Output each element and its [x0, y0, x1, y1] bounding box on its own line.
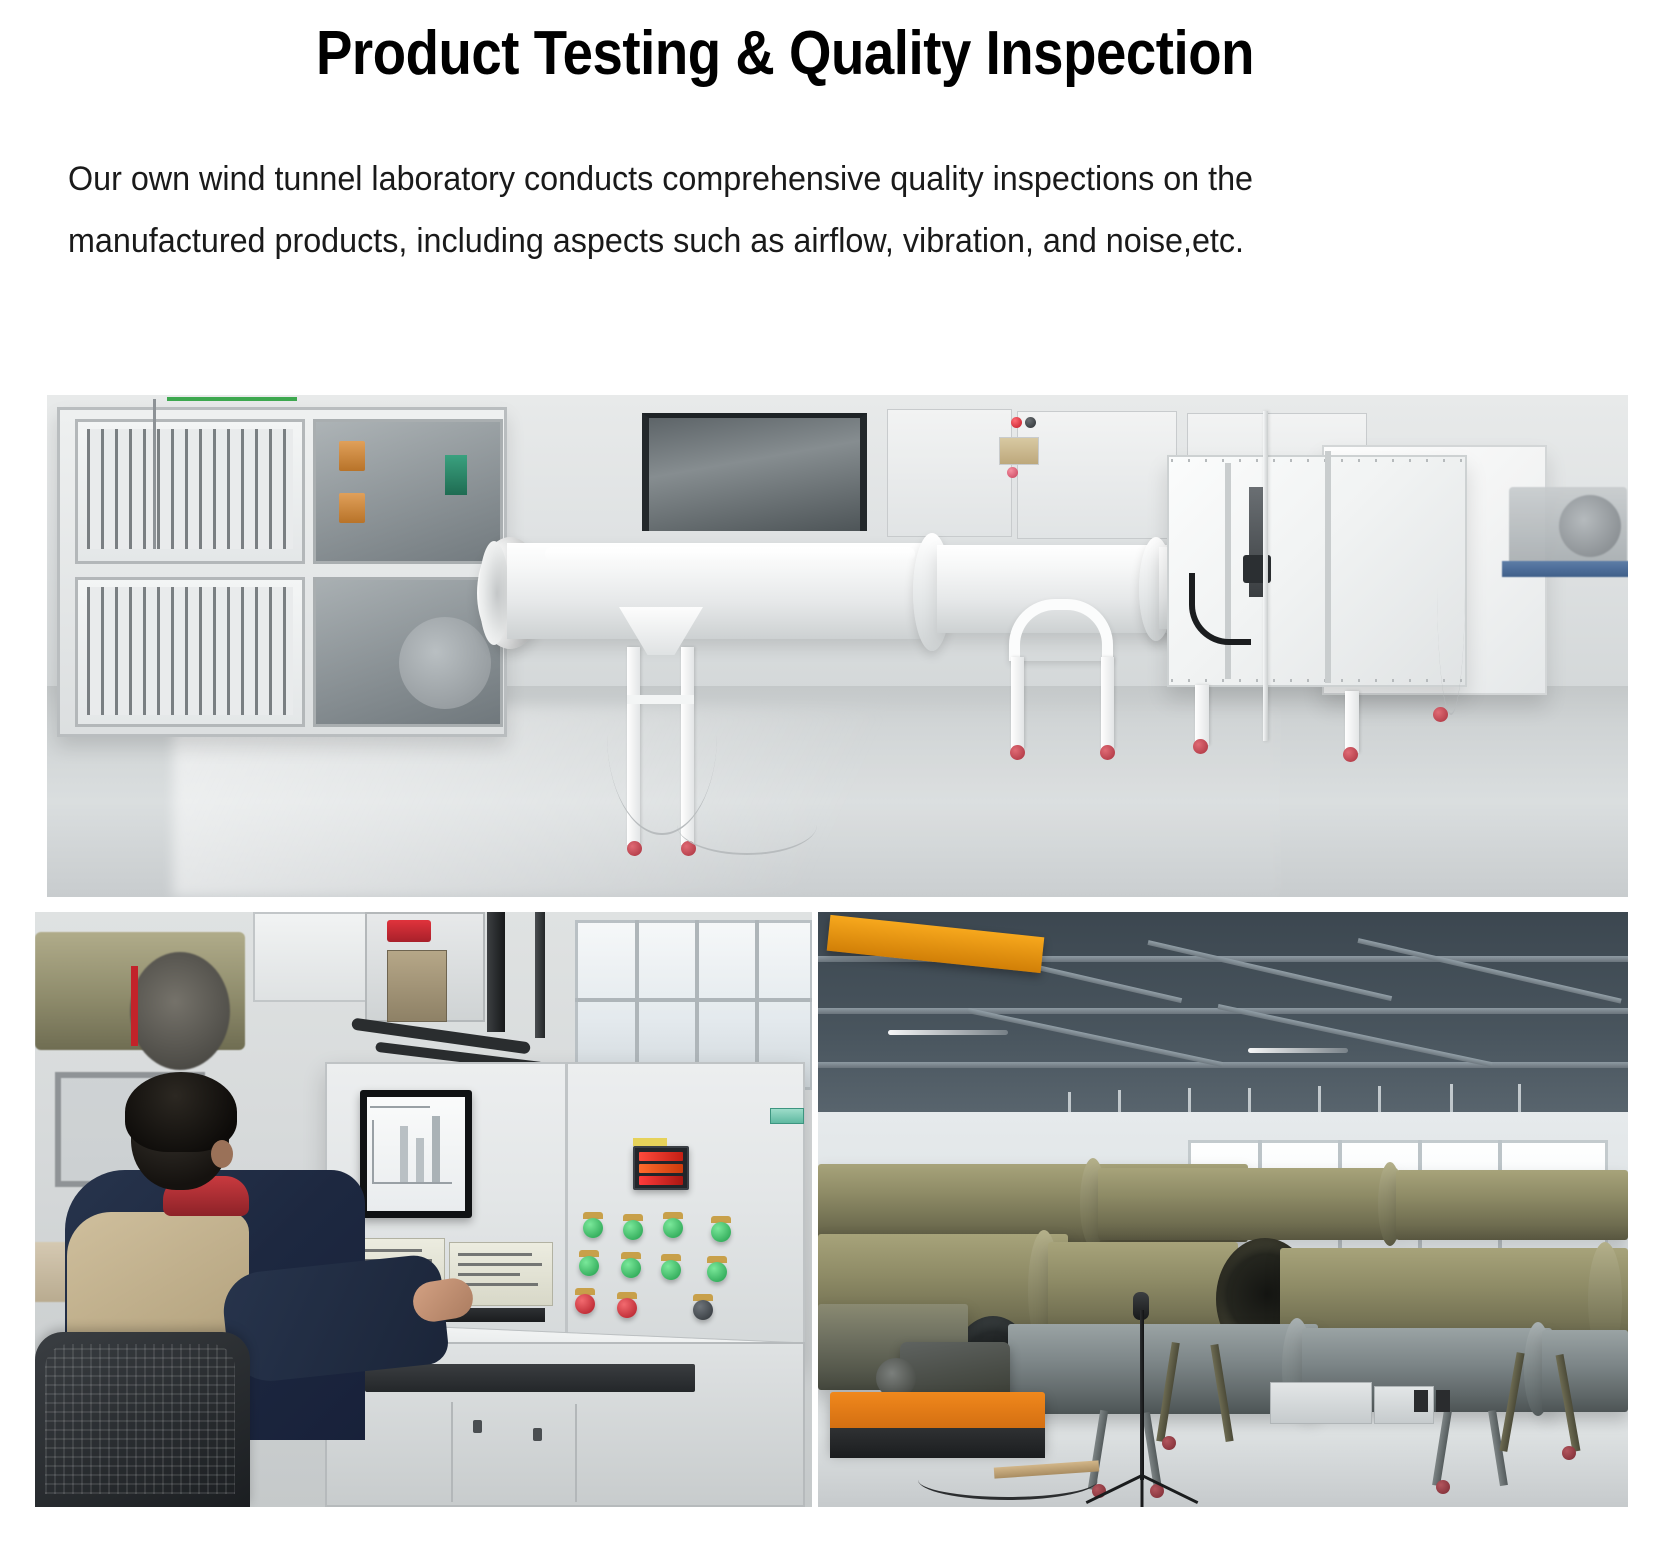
console-drawer: [365, 1364, 695, 1392]
screen-bar-b: [416, 1138, 424, 1182]
background-machine-base: [1502, 561, 1628, 577]
stand-caster-1a: [627, 841, 642, 856]
screen-axis-h: [372, 1182, 452, 1184]
stand-caster-2b: [1100, 745, 1115, 760]
chamber-caster-c: [1433, 707, 1448, 722]
console-green-label: [770, 1108, 804, 1124]
cabinet-grille-upper-left: [87, 429, 293, 549]
support-pole: [1263, 411, 1268, 741]
cabinet-knob-a: [473, 1420, 482, 1433]
ceiling-light-a: [888, 1030, 1008, 1035]
stand-leg-2b: [1101, 657, 1114, 749]
label-line: [458, 1283, 538, 1286]
bellmouth-lip: [479, 541, 509, 645]
indicator-button-black[interactable]: [693, 1300, 713, 1320]
indicator-button-red-1[interactable]: [575, 1294, 595, 1314]
photo-wind-tunnel-main: [47, 395, 1628, 897]
screen-bar-a: [400, 1126, 408, 1182]
background-fan-wheel: [1559, 495, 1621, 557]
vertical-conduit: [487, 912, 505, 1032]
internal-green-module: [445, 455, 467, 495]
slide-page: Product Testing & Quality Inspection Our…: [0, 0, 1670, 1547]
indicator-button-red-2[interactable]: [617, 1298, 637, 1318]
page-title: Product Testing & Quality Inspection: [94, 18, 1476, 89]
chamber-caster-a: [1193, 739, 1208, 754]
microphone-stand-pole: [1140, 1310, 1144, 1480]
indicator-light-red: [1011, 417, 1022, 428]
indicator-button-green-6[interactable]: [621, 1258, 641, 1278]
indicator-button-green-3[interactable]: [663, 1218, 683, 1238]
internal-blower: [399, 617, 491, 709]
plenum-chamber: [1167, 455, 1467, 687]
label-line: [362, 1249, 422, 1252]
instrument-socket-b: [1436, 1390, 1450, 1412]
console-panel-seam: [565, 1064, 568, 1360]
screen-axis-v: [372, 1120, 374, 1182]
indicator-button-green-8[interactable]: [707, 1262, 727, 1282]
background-red-marker: [131, 966, 138, 1046]
touchscreen-display[interactable]: [360, 1090, 472, 1218]
chamber-leg-a: [1195, 685, 1209, 745]
chamber-rivet-row-top: [1171, 459, 1463, 462]
operator-ear: [211, 1140, 233, 1168]
floor-cable: [918, 1460, 1098, 1500]
background-panel-a: [887, 409, 1012, 537]
operator-arm: [220, 1253, 450, 1385]
chamber-leg-b: [1345, 691, 1359, 753]
wall-cabinet: [253, 912, 373, 1002]
front-duct-c: [1542, 1330, 1628, 1412]
meter-top-tag: [633, 1138, 667, 1146]
instrument-base-a: [1270, 1382, 1372, 1424]
truss-beam-3: [818, 1062, 1628, 1068]
window-transom: [575, 998, 812, 1002]
chamber-seam-a: [1225, 463, 1231, 679]
chamber-rivet-row-bottom: [1171, 679, 1463, 682]
screen-content: [367, 1097, 465, 1211]
indicator-button-green-2[interactable]: [623, 1220, 643, 1240]
label-line: [458, 1263, 542, 1266]
indicator-light-pink: [1007, 467, 1018, 478]
stand-leg-2a: [1011, 657, 1024, 749]
indicator-button-green-4[interactable]: [711, 1222, 731, 1242]
label-line: [458, 1273, 520, 1276]
cabinet-knob-b: [533, 1428, 542, 1441]
screen-bar-c: [432, 1116, 440, 1182]
hanging-wire: [1437, 455, 1465, 715]
instrument-socket-a: [1414, 1390, 1428, 1412]
ceiling-light-b: [1248, 1048, 1348, 1053]
floor-cable-b: [677, 795, 817, 855]
cabinet-door-seam-a: [451, 1402, 453, 1502]
duct-wheel-1: [1162, 1436, 1176, 1450]
meter-row-1: [639, 1152, 683, 1161]
panel-red-label: [387, 920, 431, 942]
screen-line-a: [370, 1106, 430, 1108]
cabinet-green-strip: [167, 397, 297, 401]
background-fan-face: [130, 952, 230, 1070]
chair-mesh-back: [45, 1344, 235, 1494]
background-glass-door: [642, 413, 867, 531]
indicator-button-green-7[interactable]: [661, 1260, 681, 1280]
front-duct-wheel-c: [1436, 1480, 1450, 1494]
tripod-leg-c: [1141, 1476, 1144, 1508]
meter-row-3: [639, 1176, 683, 1185]
indicator-button-green-5[interactable]: [579, 1256, 599, 1276]
meter-row-2: [639, 1164, 683, 1173]
panel-terminal-block: [387, 950, 447, 1022]
indicator-light-black: [1025, 417, 1036, 428]
scissor-lift-base: [830, 1428, 1045, 1458]
vertical-conduit-2: [535, 912, 545, 1038]
photo-control-console-operator: [35, 912, 812, 1507]
main-duct-wheel: [1562, 1446, 1576, 1460]
background-panel-b: [1017, 411, 1177, 539]
internal-orange-module-a: [339, 441, 365, 471]
indicator-button-green-1[interactable]: [583, 1218, 603, 1238]
chamber-seam-b: [1325, 451, 1331, 683]
rear-duct-b: [1098, 1168, 1398, 1240]
rear-duct-c: [1396, 1170, 1628, 1240]
photo-large-duct-test-hall: [818, 912, 1628, 1507]
chamber-caster-b: [1343, 747, 1358, 762]
label-line: [458, 1253, 532, 1256]
stand-caster-2a: [1010, 745, 1025, 760]
cabinet-door-seam-b: [575, 1404, 577, 1502]
wall-box: [999, 437, 1039, 465]
body-paragraph: Our own wind tunnel laboratory conducts …: [68, 148, 1417, 272]
cabinet-grille-lower-left: [87, 587, 293, 715]
internal-orange-module-b: [339, 493, 365, 523]
duct-highlight: [545, 547, 915, 561]
digital-meter[interactable]: [633, 1146, 689, 1190]
cabinet-cable: [153, 399, 156, 549]
